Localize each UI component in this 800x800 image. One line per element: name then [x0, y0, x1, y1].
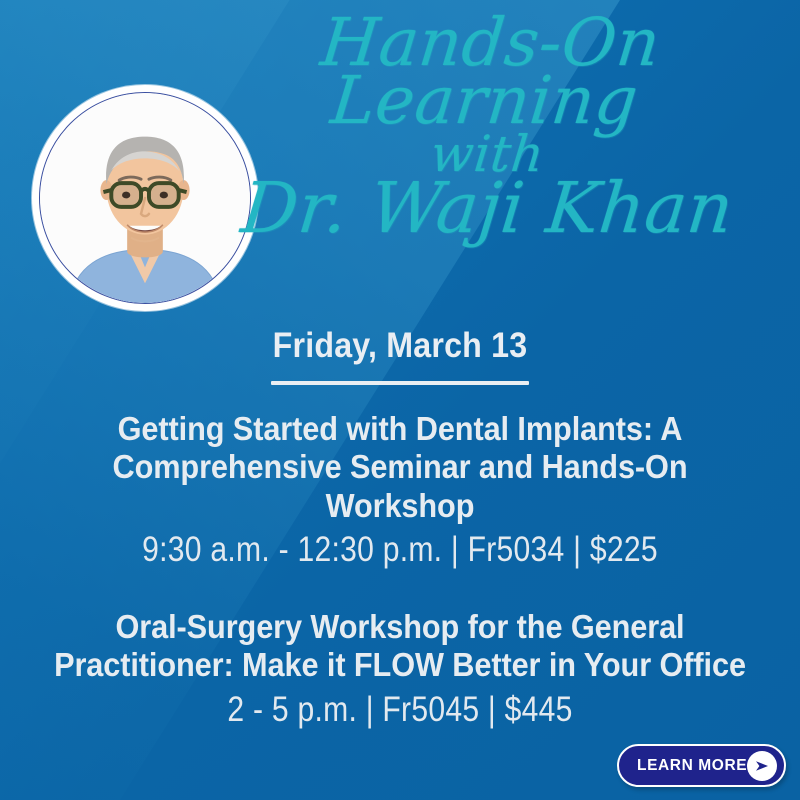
session-entry: Oral-Surgery Workshop for the General Pr… — [0, 608, 800, 730]
headline-line-3: Dr. Waji Khan — [172, 178, 800, 240]
session-entry: Getting Started with Dental Implants: A … — [0, 410, 800, 570]
headline: Hands-On Learning with Dr. Waji Khan — [175, 14, 800, 240]
learn-more-button[interactable]: LEARN MORE — [617, 744, 786, 787]
session-meta: 2 - 5 p.m. | Fr5045 | $445 — [56, 690, 744, 730]
promotional-poster: Hands-On Learning with Dr. Waji Khan Fri… — [0, 0, 800, 800]
date-divider — [271, 381, 529, 385]
event-date: Friday, March 13 — [0, 326, 800, 385]
headline-line-1: Hands-On Learning — [169, 14, 800, 130]
arrow-right-icon — [747, 751, 777, 781]
session-meta: 9:30 a.m. - 12:30 p.m. | Fr5034 | $225 — [56, 530, 744, 570]
learn-more-label: LEARN MORE — [637, 757, 747, 775]
session-title: Getting Started with Dental Implants: A … — [28, 410, 772, 525]
session-title: Oral-Surgery Workshop for the General Pr… — [28, 608, 772, 685]
event-date-label: Friday, March 13 — [32, 326, 768, 366]
